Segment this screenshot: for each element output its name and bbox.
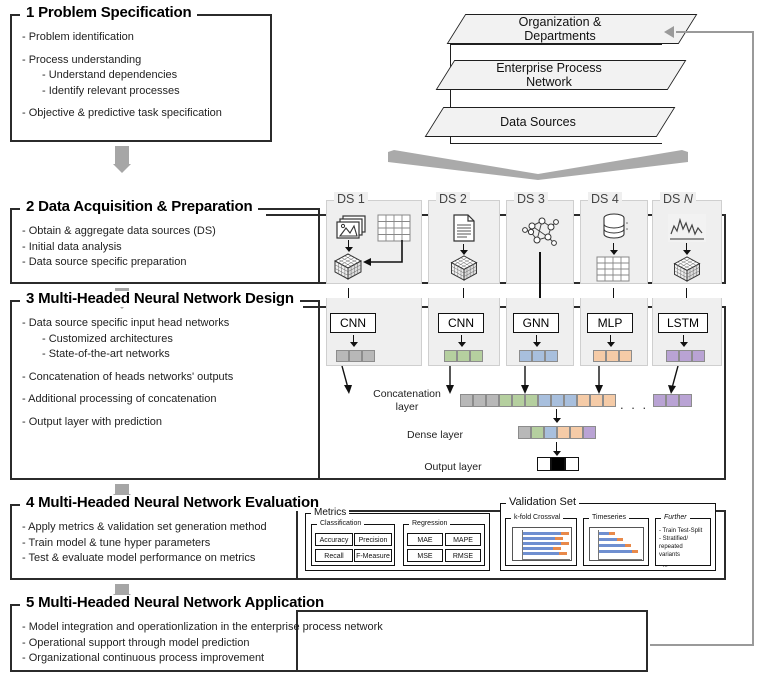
section-3-title: 3 Multi-Headed Neural Network Design xyxy=(20,291,300,307)
table-icon xyxy=(596,256,630,287)
feedback-arrowhead xyxy=(664,26,674,38)
bullet: - Customized architectures xyxy=(22,332,233,348)
concatenation-layer-label: Concatenation layer xyxy=(352,388,462,413)
bullet: - Train model & tune hyper parameters xyxy=(22,536,267,552)
metric-rmse[interactable]: RMSE xyxy=(445,549,481,562)
flow-arrow-1-to-2 xyxy=(113,146,131,173)
feedback-line-horizontal-top xyxy=(676,31,754,33)
bullet: - Additional processing of concatenation xyxy=(22,392,233,408)
concatenation-layer-cells xyxy=(460,394,616,407)
stack-to-datasources-chevron xyxy=(388,150,688,180)
bullet: - Data source specific input head networ… xyxy=(22,316,233,332)
ds-label-n: DS N xyxy=(660,192,696,206)
head-output-cells-3 xyxy=(519,350,558,362)
graph-network-icon xyxy=(520,216,560,255)
kfold-minichart xyxy=(512,527,572,561)
regression-title: Regression xyxy=(409,520,450,527)
metric-accuracy[interactable]: Accuracy xyxy=(315,533,353,546)
output-layer-label: Output layer xyxy=(398,461,508,474)
bullet: - Initial data analysis xyxy=(22,240,216,256)
model-box-mlp[interactable]: MLP xyxy=(587,313,633,333)
list-item: variants xyxy=(659,551,711,559)
section-2-bullets: - Obtain & aggregate data sources (DS) -… xyxy=(22,224,216,271)
ds-label-4: DS 4 xyxy=(588,192,622,206)
section-1-bullets: - Problem identification - Process under… xyxy=(22,30,222,122)
bullet: - Apply metrics & validation set generat… xyxy=(22,520,267,536)
bullet: - State-of-the-art networks xyxy=(22,347,233,363)
model-box-cnn-2[interactable]: CNN xyxy=(438,313,484,333)
further-list: - Train Test-Split - Stratified/ repeate… xyxy=(659,527,711,570)
section-2-data-acquisition: 2 Data Acquisition & Preparation - Obtai… xyxy=(10,208,320,284)
bullet: - Organizational continuous process impr… xyxy=(22,651,383,667)
bullet: - Problem identification xyxy=(22,30,222,46)
arrow-head3-to-cells xyxy=(532,335,541,347)
arrow-head4-to-cells xyxy=(606,335,615,347)
section-4-right-border xyxy=(724,510,726,580)
metric-mae[interactable]: MAE xyxy=(407,533,443,546)
cube-icon xyxy=(334,253,362,285)
ds-label-1: DS 1 xyxy=(334,192,368,206)
spacer xyxy=(22,385,233,392)
arrow-concat-to-dense xyxy=(552,409,561,423)
bullet: - Test & evaluate model performance on m… xyxy=(22,551,267,567)
bullet: - Output layer with prediction xyxy=(22,415,233,431)
head-output-cells-5 xyxy=(666,350,705,362)
metrics-title: Metrics xyxy=(311,507,349,518)
spacer xyxy=(22,99,222,106)
cube-icon xyxy=(450,255,478,286)
section-5-connector xyxy=(296,610,648,612)
metric-mape[interactable]: MAPE xyxy=(445,533,481,546)
feedback-line-horizontal-bottom xyxy=(650,644,754,646)
spacer xyxy=(22,363,233,370)
concatenation-ellipsis: . . . xyxy=(620,397,648,412)
bullet: - Identify relevant processes xyxy=(22,84,222,100)
output-layer-cells xyxy=(537,457,579,471)
section-3-bullets: - Data source specific input head networ… xyxy=(22,316,233,430)
stack-layer-label: Organization & xyxy=(444,15,676,29)
head-output-cells-1 xyxy=(336,350,375,362)
ds4-arrow-db-to-table xyxy=(609,243,618,255)
section-4-title: 4 Multi-Headed Neural Network Evaluation xyxy=(20,495,325,511)
list-item: - ... xyxy=(659,562,711,570)
list-item: - Stratified/ repeated xyxy=(659,535,711,551)
section-3-bottom-border xyxy=(318,478,726,480)
metric-precision[interactable]: Precision xyxy=(354,533,392,546)
section-3-network-design: 3 Multi-Headed Neural Network Design - D… xyxy=(10,300,320,480)
section-2-right-border xyxy=(724,214,726,284)
bullet: - Obtain & aggregate data sources (DS) xyxy=(22,224,216,240)
ds1-arrow-images-to-cube xyxy=(344,240,353,252)
list-item: - Train Test-Split xyxy=(659,527,711,535)
section-1-problem-specification: 1 Problem Specification - Problem identi… xyxy=(10,14,272,142)
section-2-title: 2 Data Acquisition & Preparation xyxy=(20,199,258,215)
bullet: - Data source specific preparation xyxy=(22,255,216,271)
dsn-arrow-ts-to-cube xyxy=(682,243,691,255)
stack-layer-label: Network xyxy=(433,75,665,89)
ds-label-3: DS 3 xyxy=(514,192,548,206)
classification-title: Classification xyxy=(317,520,364,527)
section-5-bottom-border xyxy=(296,670,648,672)
document-icon xyxy=(452,214,476,247)
bullet: - Understand dependencies xyxy=(22,68,222,84)
section-4-bullets: - Apply metrics & validation set generat… xyxy=(22,520,267,567)
bullet: - Concatenation of heads networks' outpu… xyxy=(22,370,233,386)
timeseries-title: Timeseries xyxy=(589,514,629,521)
ds1-arrow-table-to-cube xyxy=(360,240,406,270)
kfold-title: k-fold Crossval xyxy=(511,514,563,521)
bullet: - Model integration and operationlizatio… xyxy=(22,620,383,636)
concatenation-layer-tail-cells xyxy=(653,394,692,407)
spacer xyxy=(22,408,233,415)
bullet: - Operational support through model pred… xyxy=(22,636,383,652)
further-title: Further xyxy=(661,514,690,521)
metric-mse[interactable]: MSE xyxy=(407,549,443,562)
validation-set-title: Validation Set xyxy=(506,496,579,508)
metric-f-measure[interactable]: F-Measure xyxy=(354,549,392,562)
section-4-bottom-border xyxy=(296,578,726,580)
head-output-cells-4 xyxy=(593,350,632,362)
section-1-title: 1 Problem Specification xyxy=(20,5,197,21)
cube-icon xyxy=(673,256,701,287)
section-5-title: 5 Multi-Headed Neural Network Applicatio… xyxy=(20,595,330,611)
timeseries-minichart xyxy=(589,527,644,561)
spacer xyxy=(22,46,222,53)
model-box-cnn-1[interactable]: CNN xyxy=(330,313,376,333)
feedback-line-vertical xyxy=(752,31,754,646)
database-icon xyxy=(601,213,629,246)
dense-layer-label: Dense layer xyxy=(380,429,490,442)
ds2-arrow-document-to-cube xyxy=(459,244,468,255)
model-box-gnn[interactable]: GNN xyxy=(513,313,559,333)
metric-recall[interactable]: Recall xyxy=(315,549,353,562)
arrow-head2-to-cells xyxy=(457,335,466,347)
arrow-dense-to-output xyxy=(552,442,561,456)
stack-layer-label: Departments xyxy=(444,29,676,43)
section-5-right-border xyxy=(646,610,648,672)
enterprise-stack: Organization & Departments Enterprise Pr… xyxy=(432,8,682,148)
head-output-cells-2 xyxy=(444,350,483,362)
dense-layer-cells xyxy=(518,426,596,439)
arrow-head1-to-cells xyxy=(349,335,358,347)
arrow-head5-to-cells xyxy=(679,335,688,347)
stack-layer-label: Enterprise Process xyxy=(433,61,665,75)
section-5-bullets: - Model integration and operationlizatio… xyxy=(22,620,383,667)
ds-label-2: DS 2 xyxy=(436,192,470,206)
section-4-network-evaluation: 4 Multi-Headed Neural Network Evaluation… xyxy=(10,504,298,580)
bullet: - Objective & predictive task specificat… xyxy=(22,106,222,122)
stack-layer-label: Data Sources xyxy=(422,115,654,129)
bullet: - Process understanding xyxy=(22,53,222,69)
section-5-network-application: 5 Multi-Headed Neural Network Applicatio… xyxy=(10,604,298,672)
model-box-lstm[interactable]: LSTM xyxy=(658,313,708,333)
